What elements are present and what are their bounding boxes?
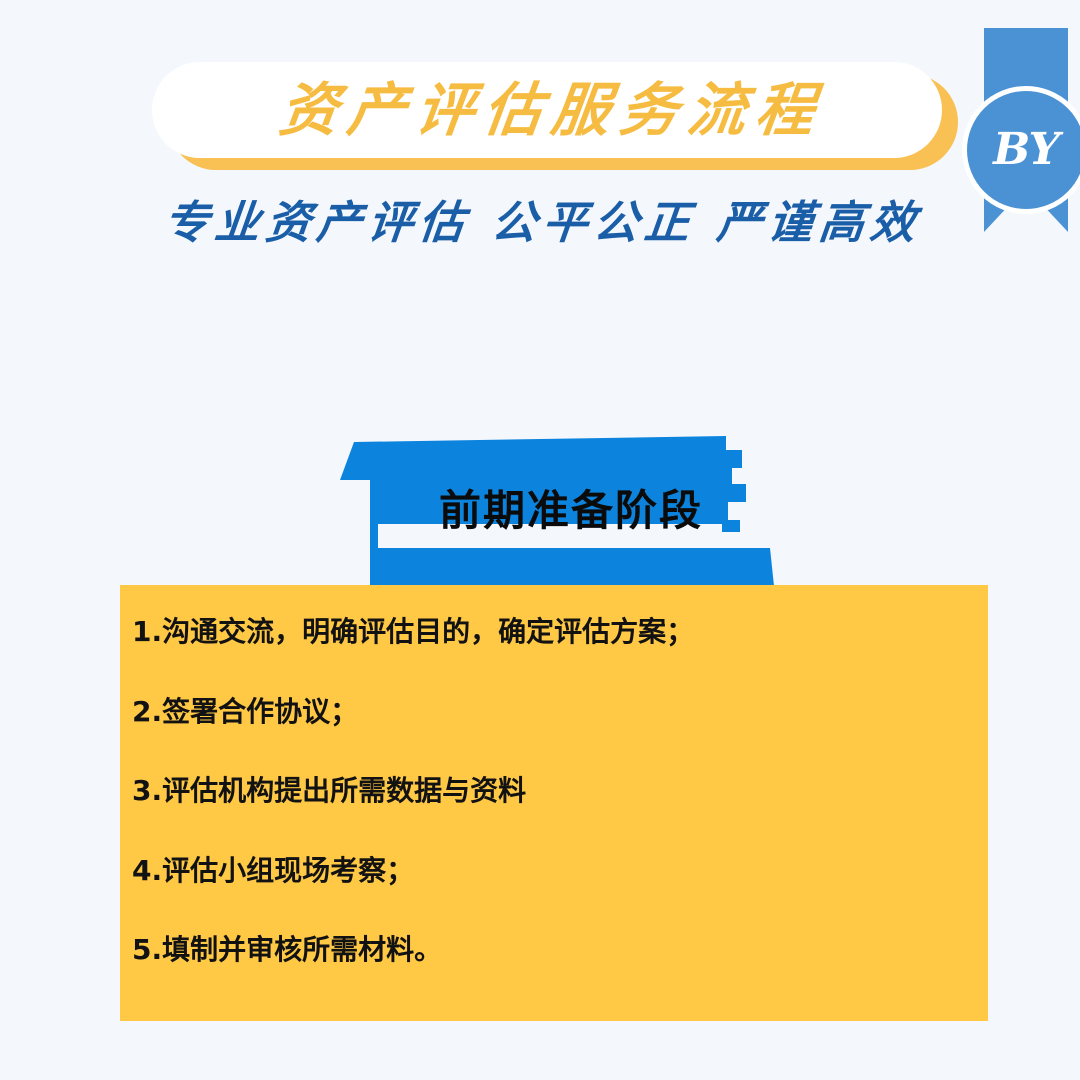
section-banner: 前期准备阶段 — [322, 428, 792, 586]
list-item: 1.沟通交流，明确评估目的，确定评估方案； — [132, 615, 962, 649]
poster-header: 资产评估服务流程 专业资产评估 公平公正 严谨高效 — [0, 0, 1080, 280]
section-banner-label: 前期准备阶段 — [322, 428, 792, 586]
steps-card: 1.沟通交流，明确评估目的，确定评估方案； 2.签署合作协议； 3.评估机构提出… — [120, 585, 988, 1021]
list-item: 2.签署合作协议； — [132, 695, 962, 729]
steps-list: 1.沟通交流，明确评估目的，确定评估方案； 2.签署合作协议； 3.评估机构提出… — [132, 615, 962, 967]
page-title: 资产评估服务流程 — [266, 81, 827, 139]
badge-initials: BY — [993, 128, 1059, 172]
list-item: 4.评估小组现场考察； — [132, 854, 962, 888]
list-item: 3.评估机构提出所需数据与资料 — [132, 774, 962, 808]
page-subtitle: 专业资产评估 公平公正 严谨高效 — [0, 186, 1080, 251]
brand-ribbon-badge: BY — [984, 28, 1068, 232]
title-pill: 资产评估服务流程 — [152, 62, 942, 158]
poster-root: 资产评估服务流程 专业资产评估 公平公正 严谨高效 BY 前期准备阶段 1.沟通… — [0, 0, 1080, 1080]
badge-circle: BY — [962, 86, 1080, 214]
list-item: 5.填制并审核所需材料。 — [132, 933, 962, 967]
